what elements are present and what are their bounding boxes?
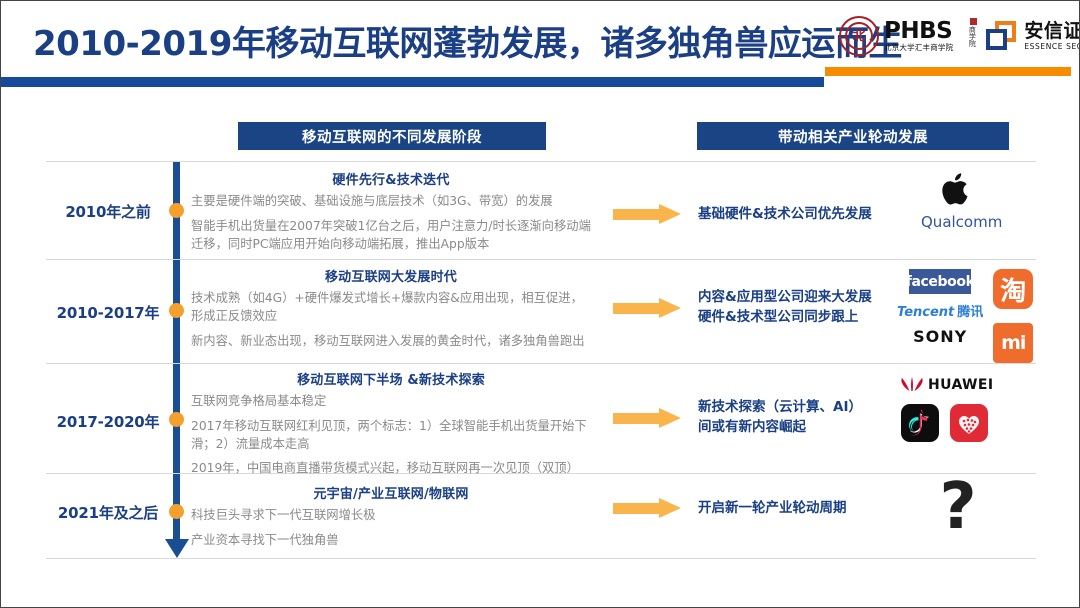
taobao-logo-icon: 淘 <box>993 269 1033 309</box>
essence-english-name: ESSENCE SECURITIES <box>1024 43 1080 51</box>
row-outcome-line: 内容&应用型公司迎来大发展 <box>698 287 908 307</box>
sony-logo-icon: SONY <box>913 327 967 346</box>
essence-blue-square-icon <box>986 29 1007 50</box>
left-column-header: 移动互联网的不同发展阶段 <box>238 122 546 150</box>
arrow-head <box>659 298 681 318</box>
row-outcome-line: 间或有新内容崛起 <box>698 417 908 437</box>
arrow-shaft <box>613 413 661 424</box>
timeline-arrow-icon <box>165 539 189 558</box>
row-line: 智能手机出货量在2007年突破1亿台之后，用户注意力/时长逐渐向移动端迁移，同时… <box>191 218 591 254</box>
flow-arrow-4 <box>613 498 681 518</box>
timeline-dot-2 <box>169 303 184 318</box>
row-separator <box>46 363 1036 364</box>
row-title: 硬件先行&技术迭代 <box>191 169 591 188</box>
row-line: 2017年移动互联网红利见顶，两个标志：1）全球智能手机出货量开始下滑；2）流量… <box>191 418 591 454</box>
row-line: 技术成熟（如4G）+硬件爆发式增长+爆款内容&应用出现，相互促进，形成正反馈效应 <box>191 290 591 326</box>
row-line: 科技巨头寻求下一代互联网增长极 <box>191 507 591 525</box>
row-outcome-3: 新技术探索（云计算、AI） 间或有新内容崛起 <box>698 397 908 438</box>
phbs-chinese-name: 北京大学汇丰商学院 <box>884 44 953 52</box>
row-line: 新内容、新业态出现，移动互联网进入发展的黄金时代，诸多独角兽跑出 <box>191 333 591 351</box>
xiaomi-logo-icon: mi <box>993 323 1033 363</box>
row-2-logo-group: facebook Tencent腾讯 SONY 淘 mi <box>897 269 1027 363</box>
slide-header: 2010-2019年移动互联网蓬勃发展，诸多独角兽应运而生 北 PHBS 北京大… <box>1 1 1079 81</box>
row-outcome-1: 基础硬件&技术公司优先发展 <box>698 204 908 224</box>
row-line: 2019年，中国电商直播带货模式兴起，移动互联网再一次见顶（双顶） <box>191 460 591 478</box>
question-mark-icon: ? <box>923 475 993 539</box>
row-year-label: 2010-2017年 <box>49 302 167 323</box>
timeline-dot-4 <box>169 504 184 519</box>
timeline-dot-1 <box>169 203 184 218</box>
row-body-1: 硬件先行&技术迭代 主要是硬件端的突破、基础设施与底层技术（如3G、带宽）的发展… <box>191 169 591 260</box>
page-title: 2010-2019年移动互联网蓬勃发展，诸多独角兽应运而生 <box>33 16 902 65</box>
phbs-name: PHBS <box>884 20 953 43</box>
flow-arrow-3 <box>613 408 681 428</box>
row-outcome-4: 开启新一轮产业轮动周期 <box>698 498 908 518</box>
row-title: 元宇宙/产业互联网/物联网 <box>191 483 591 502</box>
essence-chinese-name: 安信证券 <box>1024 22 1080 41</box>
tencent-logo-icon: Tencent腾讯 <box>897 301 983 320</box>
timeline-axis <box>173 161 180 546</box>
row-line: 产业资本寻找下一代独角兽 <box>191 532 591 550</box>
row-1-logo-group: Qualcomm <box>921 169 991 231</box>
arrow-head <box>659 498 681 518</box>
row-outcome-2: 内容&应用型公司迎来大发展 硬件&技术型公司同步跟上 <box>698 287 908 328</box>
stamp-square-icon <box>970 18 977 25</box>
arrow-shaft <box>613 503 661 514</box>
row-body-3: 移动互联网下半场 &新技术探索 互联网竞争格局基本稳定 2017年移动互联网红利… <box>191 369 591 485</box>
arrow-head <box>659 408 681 428</box>
row-separator <box>46 161 1036 162</box>
row-4-logo-group: ? <box>923 475 993 539</box>
row-title: 移动互联网下半场 &新技术探索 <box>191 369 591 388</box>
row-year-label: 2017-2020年 <box>49 411 167 432</box>
row-outcome-line: 新技术探索（云计算、AI） <box>698 397 908 417</box>
arrow-shaft <box>613 209 661 220</box>
right-column-header: 带动相关产业轮动发展 <box>697 122 1009 150</box>
phbs-seal-char: 北 <box>852 30 865 43</box>
row-year-label: 2021年及之后 <box>49 502 167 523</box>
header-orange-rule <box>825 67 1071 76</box>
row-3-logo-group: HUAWEI <box>901 377 1031 442</box>
essence-wordmark: 安信证券 ESSENCE SECURITIES <box>1024 22 1080 51</box>
kuaishou-logo-icon <box>950 404 988 442</box>
row-outcome-line: 硬件&技术型公司同步跟上 <box>698 307 908 327</box>
qualcomm-logo-text: Qualcomm <box>921 213 991 231</box>
header-blue-rule <box>1 77 824 87</box>
arrow-head <box>659 204 681 224</box>
phbs-stamp-icon: 商学院 <box>960 19 976 53</box>
huawei-logo-text: HUAWEI <box>928 377 993 393</box>
tencent-logo-cn: 腾讯 <box>957 305 983 320</box>
flow-arrow-2 <box>613 298 681 318</box>
row-body-4: 元宇宙/产业互联网/物联网 科技巨头寻求下一代互联网增长极 产业资本寻找下一代独… <box>191 483 591 557</box>
timeline-dot-3 <box>169 412 184 427</box>
tencent-logo-en: Tencent <box>897 305 954 320</box>
slide-root: 2010-2019年移动互联网蓬勃发展，诸多独角兽应运而生 北 PHBS 北京大… <box>0 0 1080 608</box>
row-title: 移动互联网大发展时代 <box>191 266 591 285</box>
apple-logo-icon <box>939 169 973 209</box>
row-line: 互联网竞争格局基本稳定 <box>191 393 591 411</box>
phbs-wordmark: PHBS 北京大学汇丰商学院 <box>884 20 953 52</box>
huawei-logo-icon: HUAWEI <box>901 377 1031 393</box>
row-year-label: 2010年之前 <box>49 201 167 222</box>
row-line: 主要是硬件端的突破、基础设施与底层技术（如3G、带宽）的发展 <box>191 193 591 211</box>
header-logo-group: 北 PHBS 北京大学汇丰商学院 商学院 安信证券 ESSENCE SECURI… <box>839 7 1077 65</box>
row-body-2: 移动互联网大发展时代 技术成熟（如4G）+硬件爆发式增长+爆款内容&应用出现，相… <box>191 266 591 357</box>
huawei-flower-icon <box>901 377 923 393</box>
flow-arrow-1 <box>613 204 681 224</box>
peking-university-seal-icon: 北 <box>839 16 879 56</box>
essence-securities-mark-icon <box>986 21 1016 51</box>
arrow-shaft <box>613 303 661 314</box>
facebook-logo-icon: facebook <box>909 269 971 294</box>
phbs-stamp-text: 商学院 <box>968 26 976 47</box>
row-separator <box>46 558 1036 559</box>
tiktok-logo-icon <box>901 404 939 442</box>
